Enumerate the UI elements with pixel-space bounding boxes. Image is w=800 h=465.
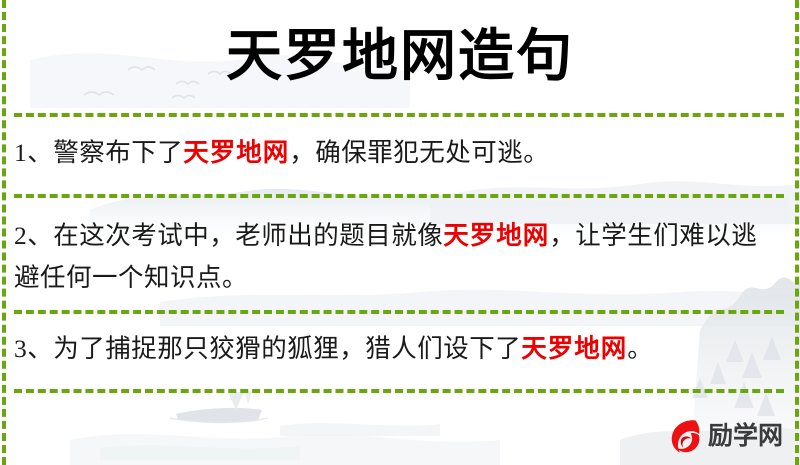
divider-sentence-2-bottom <box>14 310 784 314</box>
sentence-number-3: 3、 <box>14 334 53 363</box>
sentence-item-1: 1、警察布下了天罗地网，确保罪犯无处可逃。 <box>14 132 774 174</box>
idiom-highlight-1: 天罗地网 <box>183 138 289 167</box>
idiom-highlight-3: 天罗地网 <box>521 334 627 363</box>
sentence-number-2: 2、 <box>14 221 53 250</box>
sentence-number-1: 1、 <box>14 138 53 167</box>
sentence-item-3: 3、为了捕捉那只狡猾的狐狸，猎人们设下了天罗地网。 <box>14 328 774 370</box>
sentence-text-before-3: 为了捕捉那只狡猾的狐狸，猎人们设下了 <box>53 334 521 363</box>
sentence-text-after-1: ，确保罪犯无处可逃。 <box>289 138 549 167</box>
divider-sentence-1-bottom <box>14 194 784 198</box>
divider-title-bottom <box>14 113 784 117</box>
border-right-dashed <box>795 0 799 465</box>
sentence-text-before-2: 在这次考试中，老师出的题目就像 <box>53 221 443 250</box>
red-swirl-flame-icon <box>664 415 706 457</box>
page-title: 天罗地网造句 <box>0 22 800 90</box>
divider-sentence-3-bottom <box>14 389 784 393</box>
border-left-dashed <box>2 0 6 465</box>
site-logo-text: 励学网 <box>708 422 783 450</box>
site-logo[interactable]: 励学网 <box>664 414 788 458</box>
sentence-text-after-3: 。 <box>627 334 653 363</box>
idiom-highlight-2: 天罗地网 <box>443 221 549 250</box>
sentence-example-page: 天罗地网造句 1、警察布下了天罗地网，确保罪犯无处可逃。 2、在这次考试中，老师… <box>0 0 800 465</box>
sentence-item-2: 2、在这次考试中，老师出的题目就像天罗地网，让学生们难以逃避任何一个知识点。 <box>14 215 774 299</box>
sentence-text-before-1: 警察布下了 <box>53 138 183 167</box>
